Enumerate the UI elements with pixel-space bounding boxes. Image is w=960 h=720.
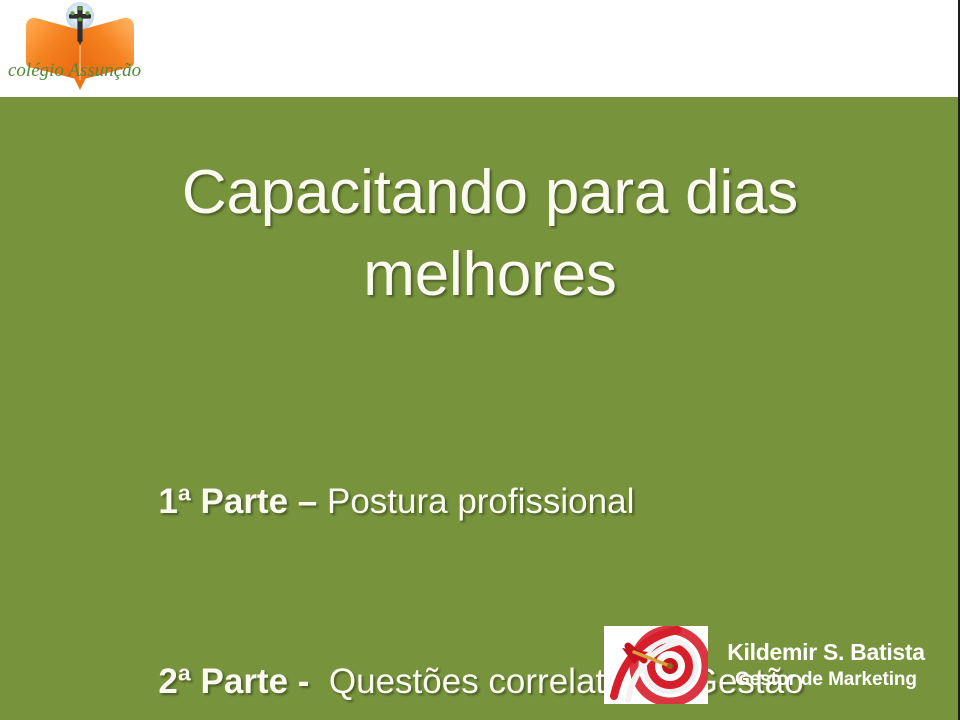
title-block: Capacitando para dias melhores	[110, 152, 870, 316]
agenda-item-2-lead: 2ª Parte -	[158, 662, 329, 701]
dart-tip	[667, 663, 673, 669]
page-title: Capacitando para dias melhores	[110, 152, 870, 316]
logo-wordmark: colégio Assunção	[8, 60, 141, 81]
presenter-credit: Kildemir S. Batista Gestor de Marketing	[604, 624, 934, 706]
logo-leaf-top	[78, 6, 82, 10]
presenter-text-block: Kildemir S. Batista Gestor de Marketing	[708, 637, 934, 693]
colegio-assuncao-logo: colégio Assunção colégio Assunção	[6, 0, 166, 95]
header-band: colégio Assunção colégio Assunção	[0, 0, 960, 97]
presenter-role: Gestor de Marketing	[718, 667, 934, 693]
logo-cross-vertical	[77, 6, 82, 42]
presentation-slide: colégio Assunção colégio Assunção Capaci…	[0, 0, 960, 720]
agenda-item-1: 1ª Parte – Postura profissional	[100, 412, 900, 592]
target-dart-logo	[604, 626, 708, 704]
logo-leaf-bottom	[78, 17, 82, 21]
agenda-item-1-lead: 1ª Parte –	[158, 482, 327, 521]
logo-leaf-left	[70, 11, 74, 15]
agenda-item-1-text: Postura profissional	[327, 482, 634, 521]
presenter-name: Kildemir S. Batista	[718, 637, 934, 667]
logo-leaf-right	[85, 11, 89, 15]
